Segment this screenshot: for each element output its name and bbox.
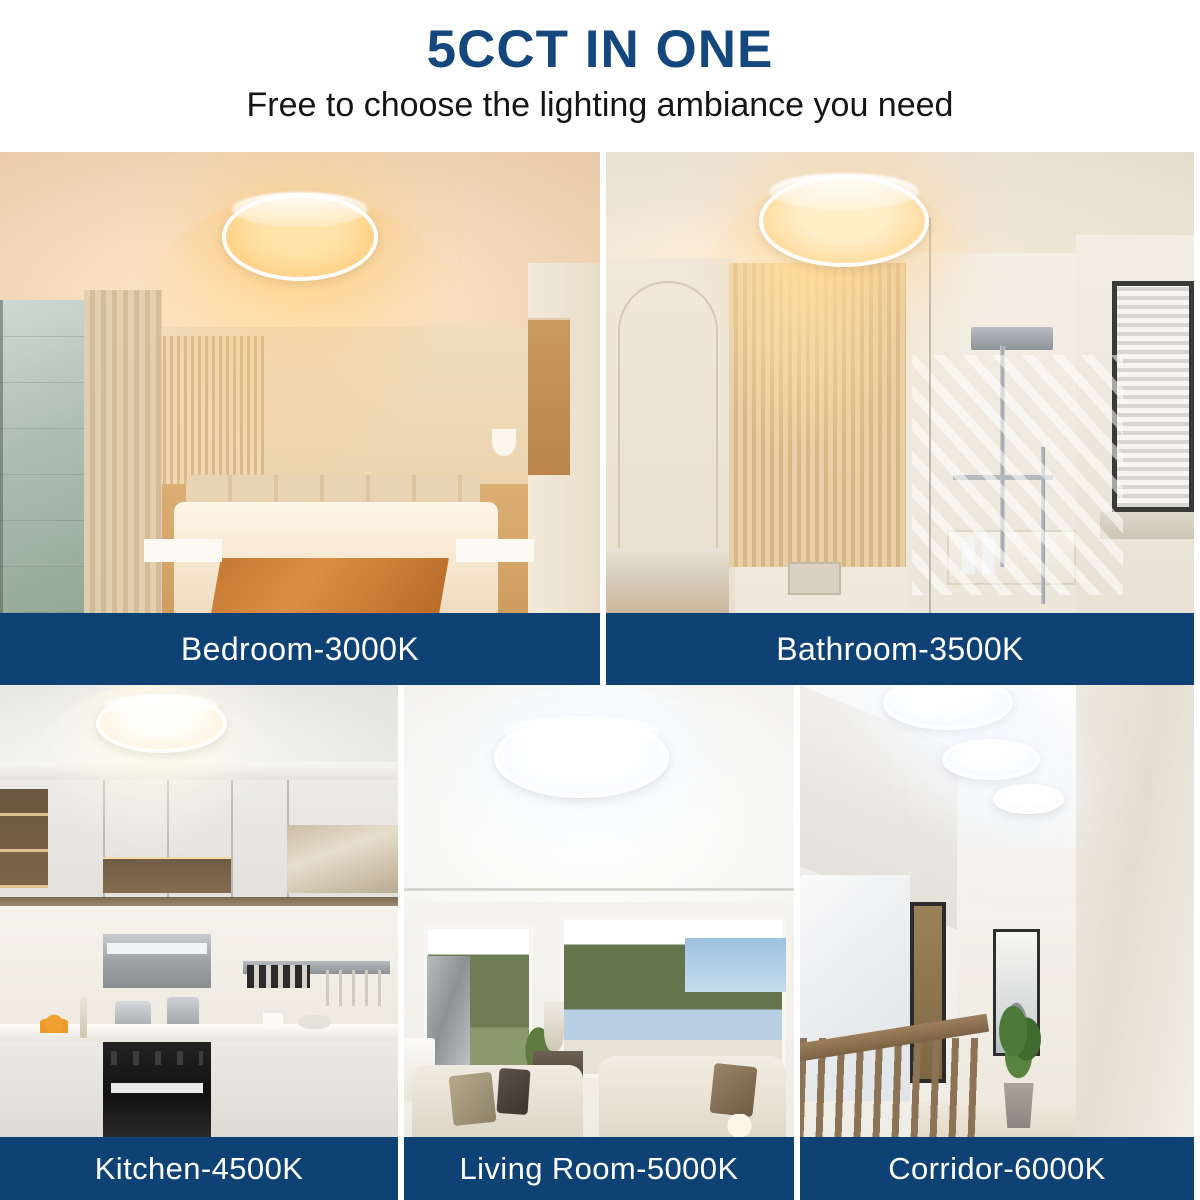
panel-row-bottom: Kitchen-4500K [0,685,1200,1200]
cabinet-seam [231,780,233,898]
cushion [710,1063,758,1117]
panel-corridor[interactable]: Corridor-6000K [794,685,1194,1200]
page-title: 5CCT IN ONE [427,22,774,78]
header: 5CCT IN ONE Free to choose the lighting … [0,0,1200,152]
rain-showerhead [971,327,1053,350]
caption-bedroom: Bedroom-3000K [0,613,600,685]
scene-kitchen [0,685,398,1137]
slat-glow [729,263,905,447]
mirror-panel [287,825,398,893]
page-subtitle: Free to choose the lighting ambiance you… [247,87,954,124]
nightstand-right [456,539,534,562]
hood-trim [107,943,207,954]
cushion [496,1068,530,1115]
hanging-utensils [326,970,390,1006]
shelf-light [0,789,48,888]
ceiling-lamp-icon [993,784,1064,813]
vanity-counter [606,548,729,613]
scene-bathroom [606,152,1194,613]
bed-throw [211,558,449,613]
window-blinds [1112,281,1194,512]
photo-corridor [800,685,1194,1137]
curtain [84,290,162,613]
cushion [448,1072,496,1126]
sky-view [685,938,786,992]
flush-plate [788,562,841,594]
glass-partition [929,217,931,613]
scene-corridor [800,685,1194,1137]
product-feature-graphic: 5CCT IN ONE Free to choose the lighting … [0,0,1200,1200]
panel-livingroom[interactable]: Living Room-5000K [398,685,794,1200]
oven-handle [111,1083,203,1093]
sunlight-stripes [912,355,1124,595]
pillar [1076,685,1194,1137]
caption-kitchen: Kitchen-4500K [0,1137,398,1200]
cabinet-base-trim [0,897,398,906]
caption-livingroom: Living Room-5000K [404,1137,794,1200]
panel-bedroom[interactable]: Bedroom-3000K [0,152,600,685]
ceiling-edge [404,888,794,891]
photo-kitchen [0,685,398,1137]
open-shelf [528,318,570,475]
caption-bathroom: Bathroom-3500K [606,613,1194,685]
ceiling-lamp-icon [222,193,378,281]
ceiling-lamp-icon [942,739,1041,780]
oven-control-panel [111,1051,203,1065]
display-niche [103,857,230,893]
soffit [0,762,398,780]
panel-row-top: Bedroom-3000K [0,152,1200,685]
wine-bottle [80,997,87,1038]
photo-bedroom [0,152,600,613]
white-flowers [716,1114,763,1137]
flower-vase [544,1001,564,1051]
scene-livingroom [404,685,794,1137]
fruit-bowl [40,1010,68,1033]
photo-bathroom [606,152,1194,613]
ceiling-lamp-icon [96,694,227,753]
niche-light [103,857,230,859]
ceiling-lamp-icon [494,717,670,798]
photo-livingroom [404,685,794,1137]
panel-bathroom[interactable]: Bathroom-3500K [600,152,1194,685]
white-bowl [263,1013,283,1029]
spice-jars [247,965,311,988]
panel-kitchen[interactable]: Kitchen-4500K [0,685,398,1200]
caption-corridor: Corridor-6000K [800,1137,1194,1200]
nightstand-left [144,539,222,562]
scene-bedroom [0,152,600,613]
ceiling-lamp-icon [759,175,930,267]
fruit-plate [299,1015,331,1029]
